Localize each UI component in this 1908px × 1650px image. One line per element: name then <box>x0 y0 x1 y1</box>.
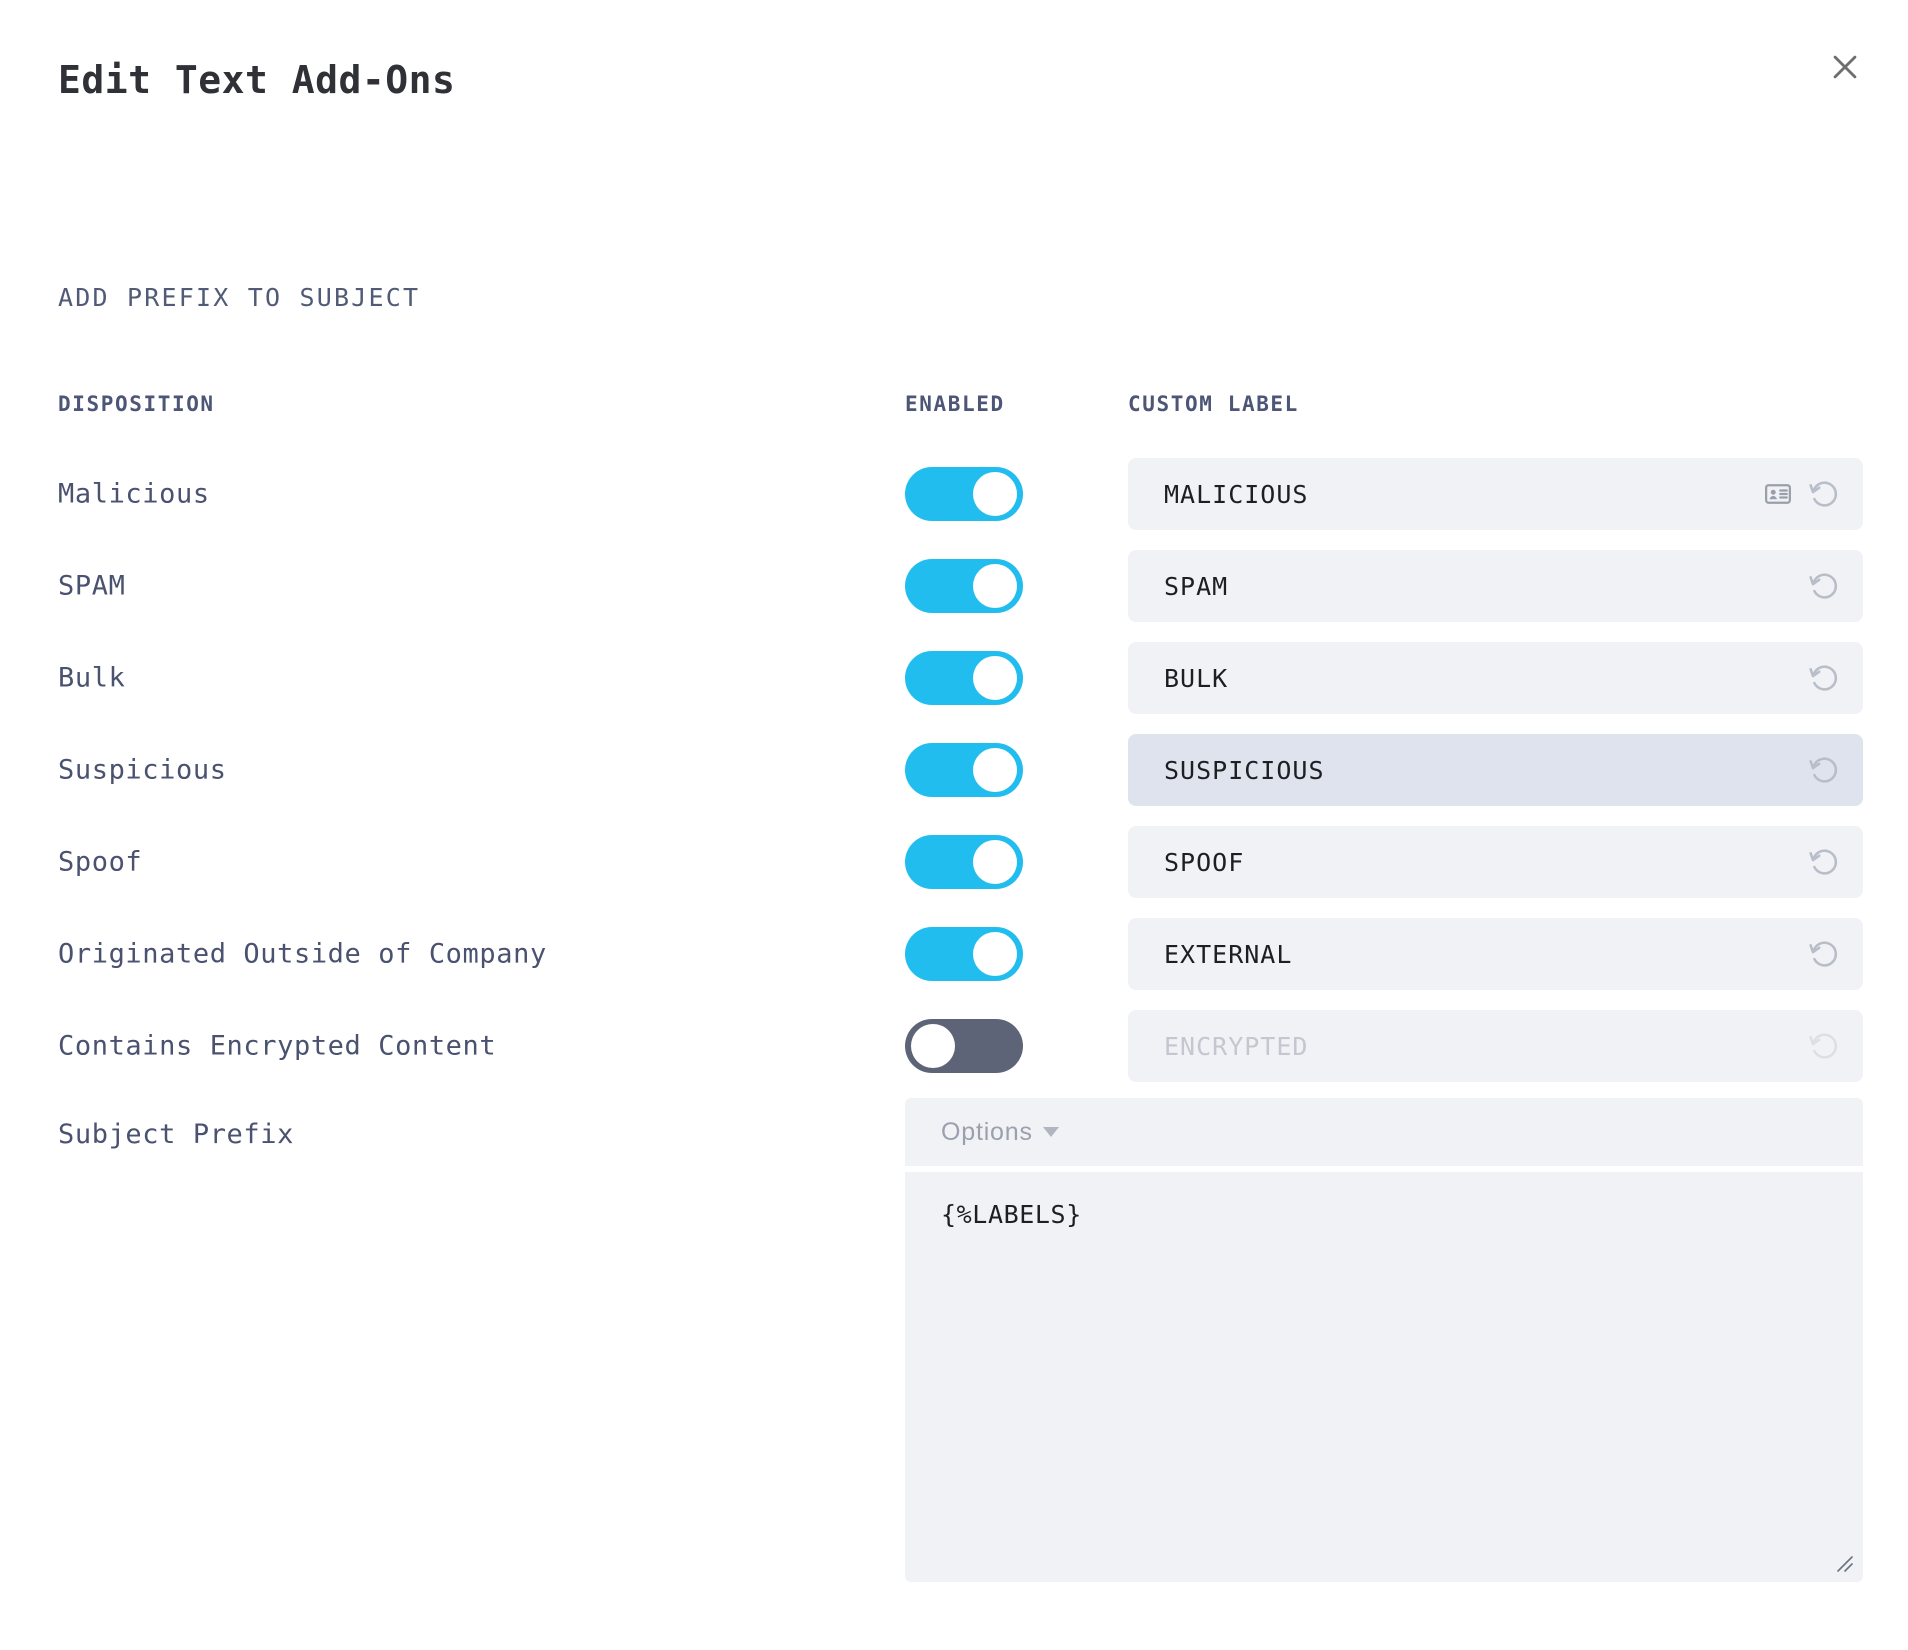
edit-text-addons-dialog: Edit Text Add-Ons ADD PREFIX TO SUBJECT … <box>0 0 1908 1650</box>
subject-prefix-value: {%LABELS} <box>941 1200 1082 1229</box>
toggle-knob <box>973 472 1017 516</box>
custom-label-input[interactable]: BULK <box>1128 642 1863 714</box>
field-icon-group <box>1807 753 1841 787</box>
column-header-disposition: DISPOSITION <box>58 392 215 416</box>
enabled-toggle[interactable] <box>905 743 1023 797</box>
custom-label-value: SUSPICIOUS <box>1164 756 1325 785</box>
enabled-toggle[interactable] <box>905 1019 1023 1073</box>
close-button[interactable] <box>1818 40 1872 94</box>
dialog-header: Edit Text Add-Ons <box>0 0 1908 150</box>
table-row: Contains Encrypted ContentENCRYPTED <box>0 1000 1908 1092</box>
enabled-toggle[interactable] <box>905 927 1023 981</box>
field-icon-group <box>1807 937 1841 971</box>
disposition-rows: MaliciousMALICIOUSSPAMSPAMBulkBULKSuspic… <box>0 448 1908 1092</box>
enabled-toggle[interactable] <box>905 559 1023 613</box>
custom-label-input: ENCRYPTED <box>1128 1010 1863 1082</box>
options-dropdown[interactable]: Options <box>941 1118 1059 1147</box>
table-row: SuspiciousSUSPICIOUS <box>0 724 1908 816</box>
custom-label-value: ENCRYPTED <box>1164 1032 1308 1061</box>
custom-label-value: SPOOF <box>1164 848 1244 877</box>
custom-label-value: SPAM <box>1164 572 1228 601</box>
custom-label-value: EXTERNAL <box>1164 940 1292 969</box>
custom-label-input[interactable]: MALICIOUS <box>1128 458 1863 530</box>
toggle-knob <box>973 564 1017 608</box>
subject-prefix-label: Subject Prefix <box>58 1119 294 1150</box>
reset-icon <box>1807 1029 1841 1063</box>
close-icon <box>1828 50 1862 84</box>
section-title: ADD PREFIX TO SUBJECT <box>58 283 420 312</box>
table-row: BulkBULK <box>0 632 1908 724</box>
table-row: SPAMSPAM <box>0 540 1908 632</box>
reset-icon[interactable] <box>1807 661 1841 695</box>
editor-toolbar: Options <box>905 1098 1863 1166</box>
toggle-knob <box>973 656 1017 700</box>
disposition-label: Spoof <box>58 847 142 878</box>
resize-grip-icon[interactable] <box>1831 1550 1857 1576</box>
contact-card-icon[interactable] <box>1763 479 1793 509</box>
disposition-label: SPAM <box>58 571 125 602</box>
field-icon-group <box>1807 845 1841 879</box>
custom-label-value: BULK <box>1164 664 1228 693</box>
reset-icon[interactable] <box>1807 569 1841 603</box>
custom-label-input[interactable]: SPOOF <box>1128 826 1863 898</box>
field-icon-group <box>1763 477 1841 511</box>
chevron-down-icon <box>1043 1127 1059 1137</box>
toggle-knob <box>973 932 1017 976</box>
disposition-label: Originated Outside of Company <box>58 939 547 970</box>
enabled-toggle[interactable] <box>905 835 1023 889</box>
options-dropdown-label: Options <box>941 1118 1033 1147</box>
disposition-label: Malicious <box>58 479 210 510</box>
field-icon-group <box>1807 1029 1841 1063</box>
toggle-knob <box>973 840 1017 884</box>
reset-icon[interactable] <box>1807 937 1841 971</box>
disposition-label: Suspicious <box>58 755 227 786</box>
disposition-label: Contains Encrypted Content <box>58 1031 496 1062</box>
custom-label-input[interactable]: SUSPICIOUS <box>1128 734 1863 806</box>
toggle-knob <box>973 748 1017 792</box>
custom-label-value: MALICIOUS <box>1164 480 1308 509</box>
reset-icon[interactable] <box>1807 477 1841 511</box>
table-row: Originated Outside of CompanyEXTERNAL <box>0 908 1908 1000</box>
subject-prefix-textarea[interactable]: {%LABELS} <box>905 1172 1863 1582</box>
page-title: Edit Text Add-Ons <box>58 58 455 102</box>
disposition-label: Bulk <box>58 663 125 694</box>
table-row: SpoofSPOOF <box>0 816 1908 908</box>
column-header-custom-label: CUSTOM LABEL <box>1128 392 1299 416</box>
toggle-knob <box>911 1024 955 1068</box>
table-row: MaliciousMALICIOUS <box>0 448 1908 540</box>
reset-icon[interactable] <box>1807 845 1841 879</box>
field-icon-group <box>1807 569 1841 603</box>
reset-icon[interactable] <box>1807 753 1841 787</box>
custom-label-input[interactable]: SPAM <box>1128 550 1863 622</box>
column-header-enabled: ENABLED <box>905 392 1005 416</box>
custom-label-input[interactable]: EXTERNAL <box>1128 918 1863 990</box>
enabled-toggle[interactable] <box>905 651 1023 705</box>
field-icon-group <box>1807 661 1841 695</box>
enabled-toggle[interactable] <box>905 467 1023 521</box>
